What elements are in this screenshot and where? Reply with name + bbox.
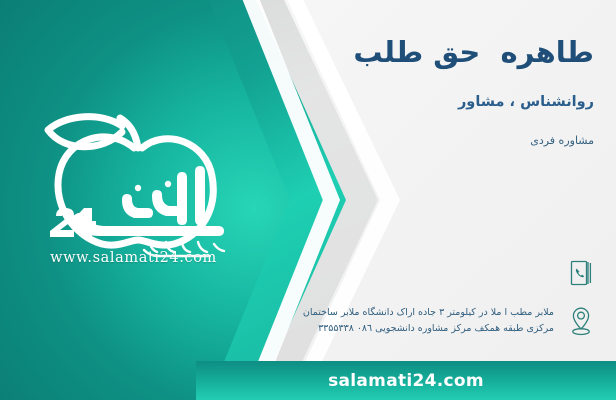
map-pin-icon <box>564 300 598 342</box>
footer-banner: salamati24.com <box>196 361 616 400</box>
phone-book-icon <box>564 252 598 294</box>
person-service: مشاوره فردی <box>264 134 594 147</box>
apple-outline-logo <box>26 108 241 258</box>
logo: www.salamati24.com <box>26 108 241 268</box>
business-card: www.salamati24.com طاهره حق طلب روانشناس… <box>0 0 616 400</box>
footer-website[interactable]: salamati24.com <box>328 371 484 391</box>
contact-row-phone <box>252 252 598 294</box>
address-line-2: مرکزی طبقه همکف مرکز مشاوره دانشجویی ۰۸٦… <box>258 321 554 337</box>
contact-block: ملابر مطب ا ملا در کیلومتر ۳ جاده اراک د… <box>252 252 598 348</box>
address-line-1: ملابر مطب ا ملا در کیلومتر ۳ جاده اراک د… <box>258 305 554 321</box>
person-role: روانشناس ، مشاور <box>264 94 594 110</box>
phone-text <box>252 258 554 288</box>
contact-row-address: ملابر مطب ا ملا در کیلومتر ۳ جاده اراک د… <box>252 300 598 342</box>
person-info: طاهره حق طلب روانشناس ، مشاور مشاوره فرد… <box>264 34 594 147</box>
person-name: طاهره حق طلب <box>264 34 594 70</box>
logo-number-24 <box>50 208 96 237</box>
address-text: ملابر مطب ا ملا در کیلومتر ۳ جاده اراک د… <box>252 305 554 336</box>
logo-url: www.salamati24.com <box>26 250 241 266</box>
